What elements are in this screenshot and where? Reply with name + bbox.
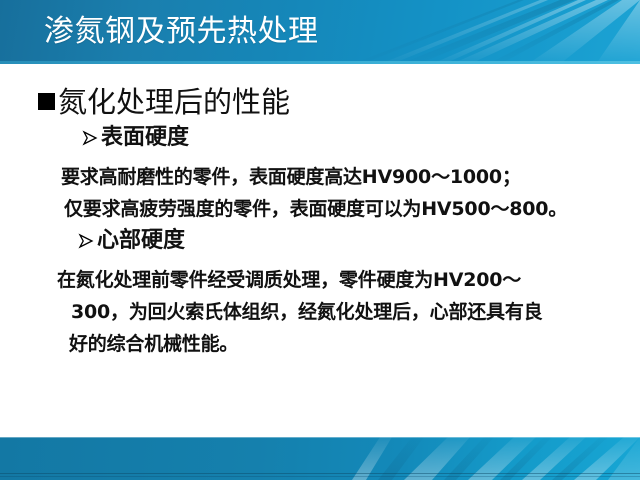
slide-footer-banner xyxy=(0,437,640,480)
footer-rule-2 xyxy=(0,476,640,477)
slide-content: 氮化处理后的性能 表面硬度 要求高耐磨性的零件，表面硬度高达HV900～1000… xyxy=(0,64,640,437)
bullet-level1-label: 氮化处理后的性能 xyxy=(58,82,290,122)
arrow-right-bullet-icon xyxy=(82,130,98,146)
paragraph1-line2: 仅要求高疲劳强度的零件，表面硬度可以为HV500～800。 xyxy=(64,194,567,224)
bullet-level2-item-surface-hardness: 表面硬度 xyxy=(82,124,189,152)
footer-edge-line xyxy=(0,437,640,438)
slide: 渗氮钢及预先热处理 氮化处理后的性能 表面硬度 要求高耐磨性的零件，表面硬度高达… xyxy=(0,0,640,480)
bullet-level2-item-core-hardness: 心部硬度 xyxy=(78,227,185,255)
slide-header-banner: 渗氮钢及预先热处理 xyxy=(0,0,640,64)
paragraph2-line3: 好的综合机械性能。 xyxy=(69,329,238,359)
paragraph2-line1: 在氮化处理前零件经受调质处理，零件硬度为HV200～ xyxy=(57,265,521,295)
paragraph2-line2: 300，为回火索氏体组织，经氮化处理后，心部还具有良 xyxy=(71,297,542,327)
slide-title: 渗氮钢及预先热处理 xyxy=(44,13,319,51)
bullet-level2-label: 表面硬度 xyxy=(101,124,189,152)
paragraph1-line1: 要求高耐磨性的零件，表面硬度高达HV900～1000； xyxy=(61,162,521,192)
bullet-level2-label: 心部硬度 xyxy=(97,227,185,255)
filled-square-bullet-icon xyxy=(38,93,55,110)
footer-rule-1 xyxy=(0,473,640,474)
arrow-right-bullet-icon xyxy=(78,233,94,249)
bullet-level1-item: 氮化处理后的性能 xyxy=(38,82,290,122)
